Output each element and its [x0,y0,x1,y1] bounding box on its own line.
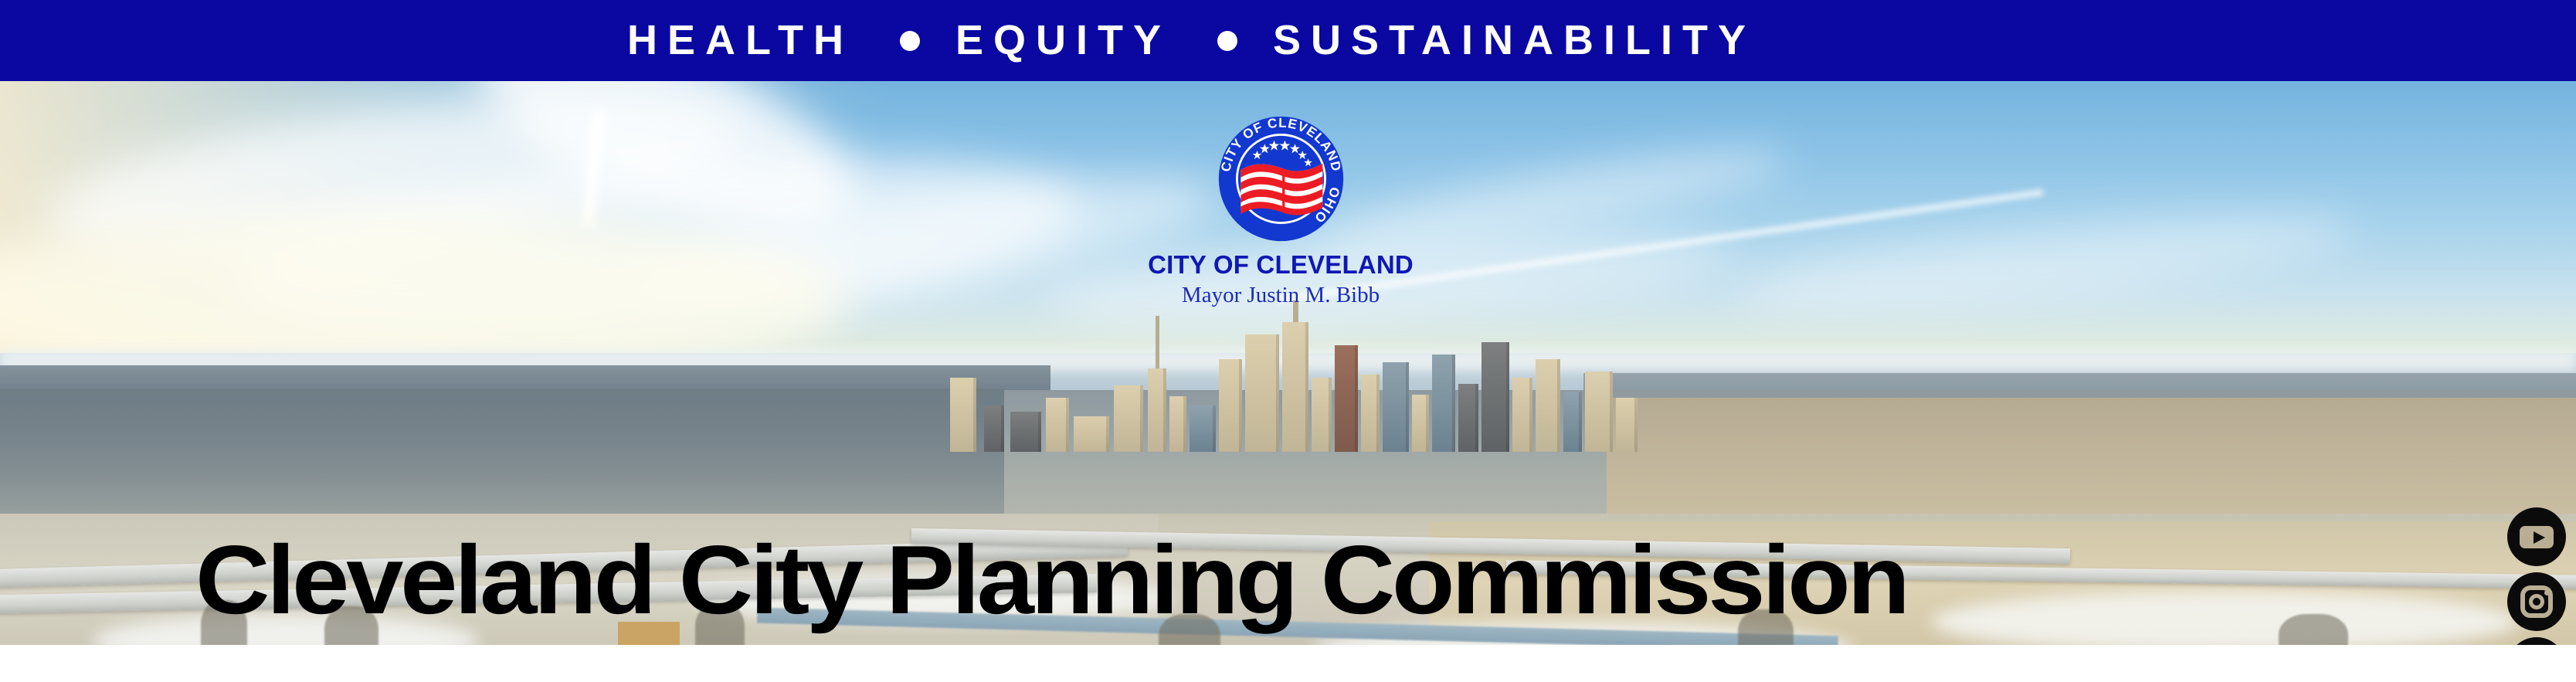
instagram-dot-icon [2544,590,2550,595]
social-link-youtube[interactable] [2507,507,2566,566]
skyline-tower [1536,359,1560,452]
bullet-dot-icon [900,31,920,51]
social-media-rail [2507,507,2571,645]
social-link-instagram[interactable] [2507,572,2566,631]
skyline-tower [1312,378,1332,452]
skyline-tower [1563,392,1582,452]
slogan-inner: HEALTH EQUITY SUSTAINABILITY [627,0,1756,81]
play-triangle-icon [2534,531,2545,544]
skyline-tower [1282,322,1308,452]
skyline-tower [1114,385,1143,452]
slogan-bar: HEALTH EQUITY SUSTAINABILITY [0,0,2576,81]
skyline-tower [1585,372,1613,452]
skyline-tower [1481,342,1509,452]
skyline-tower [1010,412,1041,452]
skyline-tower [1432,355,1455,452]
skyline-tower [984,405,1004,452]
skyline-tower [950,378,976,452]
slogan-word-sustainability: SUSTAINABILITY [1273,0,1756,81]
skyline-tower [1190,405,1216,452]
logo-mayor-name: Mayor Justin M. Bibb [1115,284,1447,307]
skyline-tower [1169,396,1186,452]
skyline-tower [1074,416,1109,452]
skyline-tower [1616,398,1638,452]
skyline-tower [1361,375,1380,452]
social-link-facebook[interactable] [2507,637,2566,645]
city-of-cleveland-seal-icon: CITY OF CLEVELAND OHIO [1218,116,1344,242]
slogan-word-health: HEALTH [627,0,854,81]
skyline-tower [1148,368,1166,452]
city-logo-lockup[interactable]: CITY OF CLEVELAND OHIO [1115,116,1447,307]
skyline-tower [1512,378,1532,452]
downtown-skyline [950,313,1645,452]
logo-organization-name: CITY OF CLEVELAND [1115,252,1447,277]
hero-photo: CITY OF CLEVELAND OHIO [0,81,2576,645]
skyline-tower [1046,398,1069,452]
instagram-lens-icon [2529,594,2544,609]
page-title: Cleveland City Planning Commission [195,531,2324,629]
skyline-tower [1219,359,1242,452]
slogan-word-equity: EQUITY [955,0,1171,81]
skyline-tower [1412,395,1429,452]
bullet-dot-icon [1217,31,1237,51]
skyline-tower [1335,345,1358,452]
skyline-tower [1245,334,1279,452]
skyline-tower [1458,384,1478,452]
skyline-tower [1383,362,1409,452]
cleveland-planning-hero-banner: HEALTH EQUITY SUSTAINABILITY [0,0,2576,682]
